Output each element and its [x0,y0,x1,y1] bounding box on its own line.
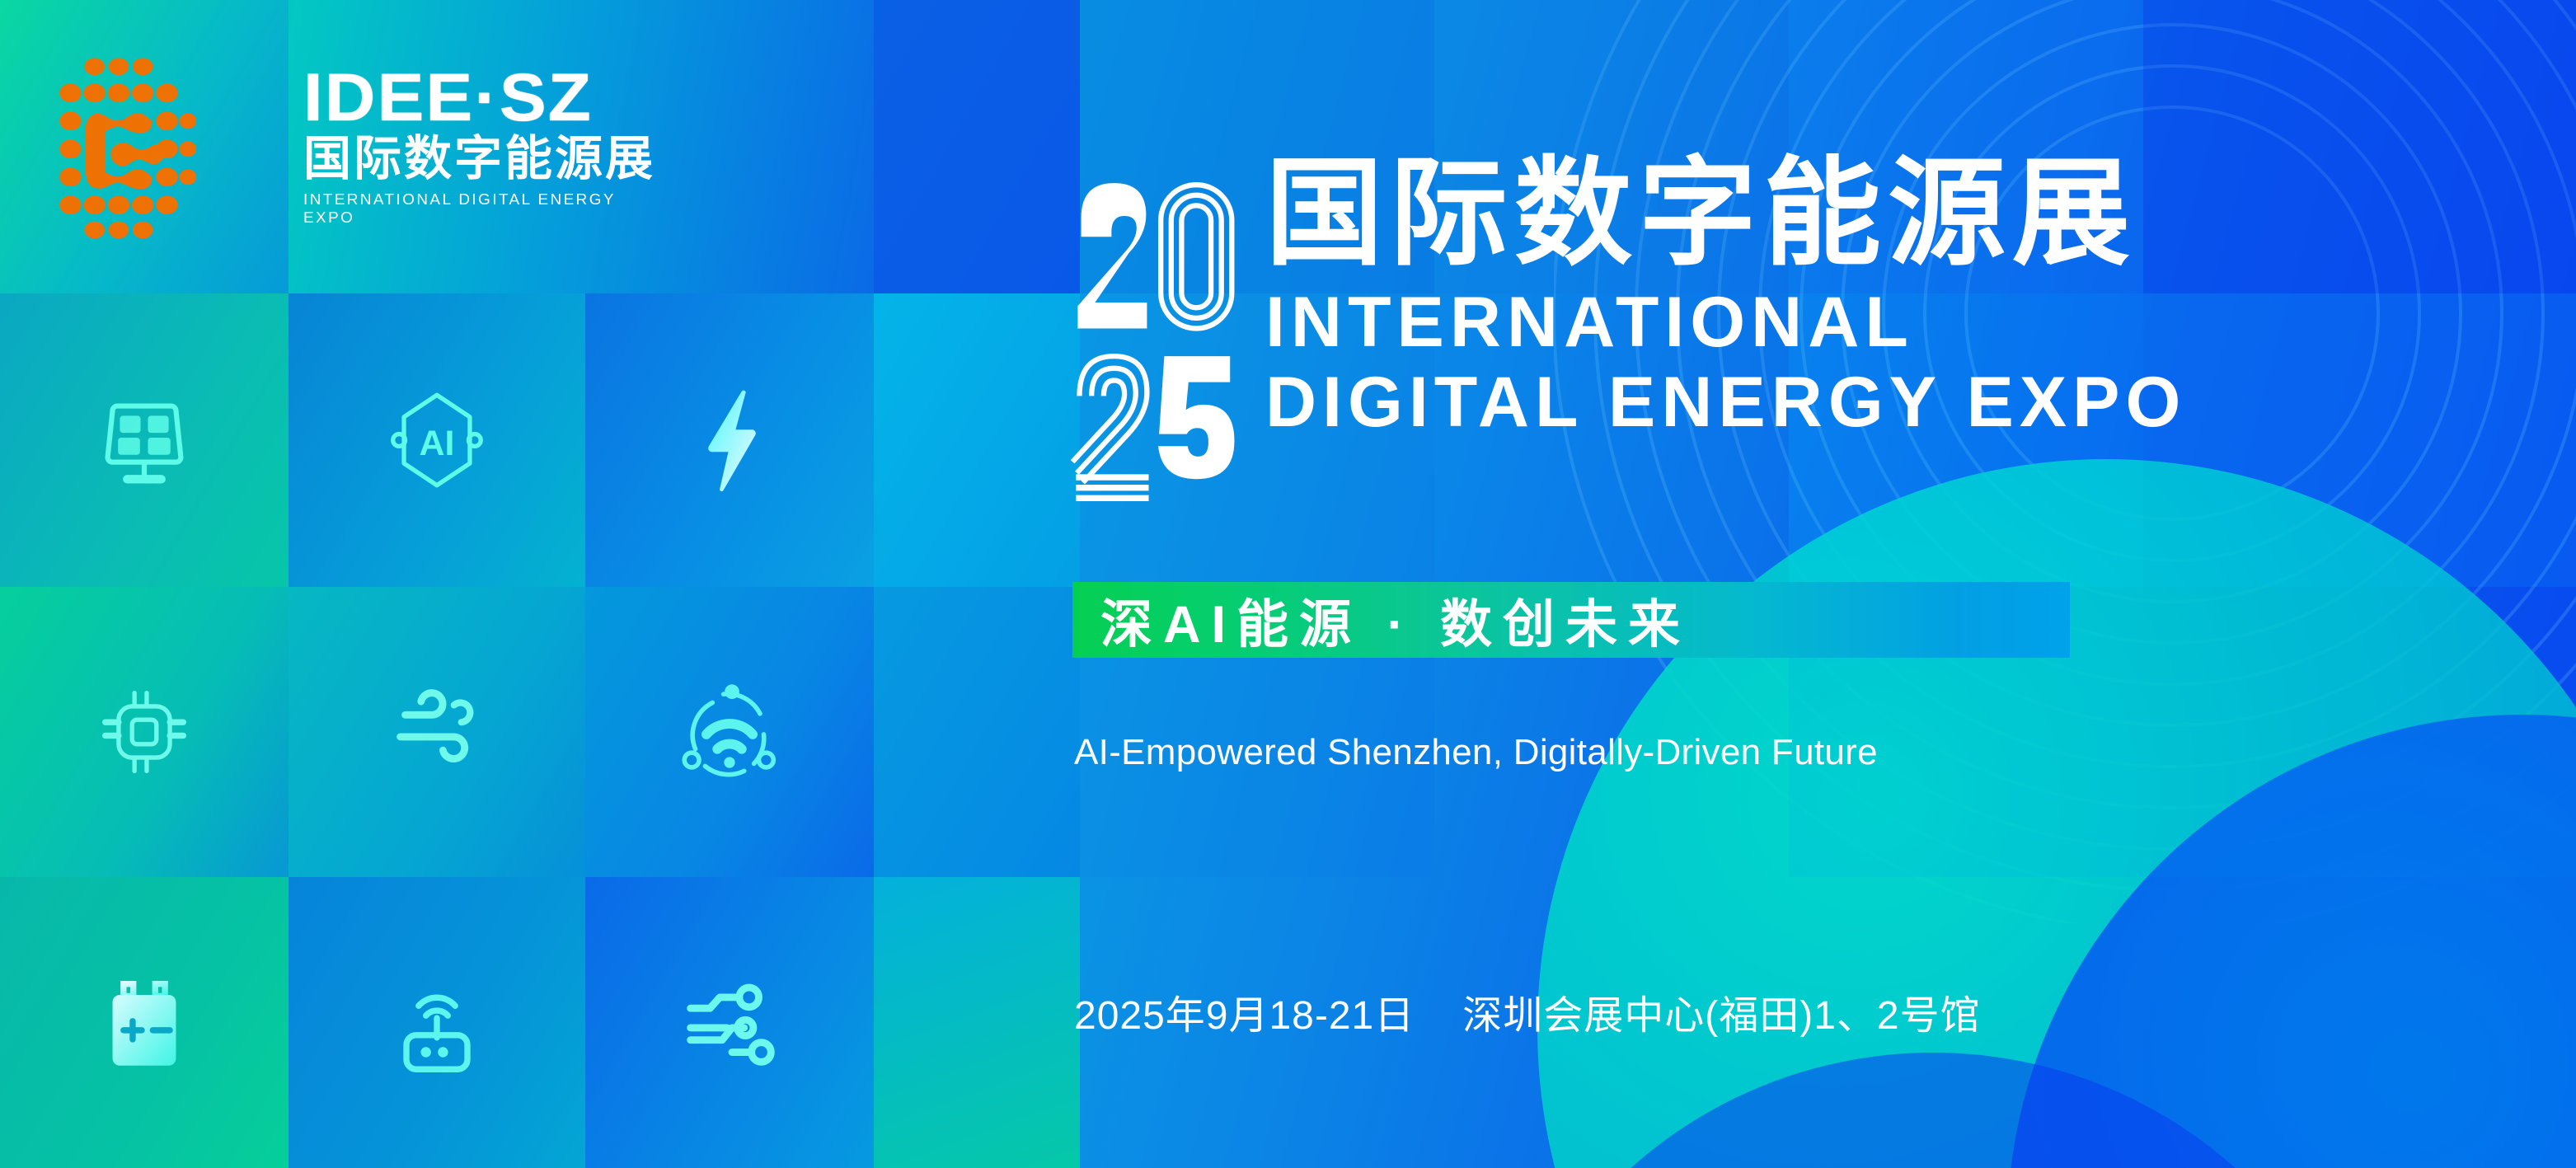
slogan-en: AI-Empowered Shenzhen, Digitally-Driven … [1074,732,1878,773]
svg-text:AI: AI [420,424,455,463]
hero-content: 国际数字能源展 INTERNATIONAL DIGITAL ENERGY EXP… [1067,0,2576,1168]
event-date: 2025年9月18-21日 [1074,983,1415,1040]
lightning-bolt-icon [585,293,874,587]
brand-wordmark-block: IDEE·SZ 国际数字能源展 INTERNATIONAL DIGITAL EN… [303,67,658,226]
circuit-nodes-icon [585,877,874,1168]
event-venue: 深圳会展中心(福田)1、2号馆 [1462,983,1980,1040]
slogan-bar: 深AI能源 · 数创未来 [1072,582,2070,658]
hero-title-texts: 国际数字能源展 INTERNATIONAL DIGITAL ENERGY EXP… [1265,154,2186,441]
wind-icon [289,587,585,877]
brand-name-en: INTERNATIONAL DIGITAL ENERGY EXPO [303,190,665,227]
mosaic-tile [874,587,1080,877]
hero-title-row: 国际数字能源展 INTERNATIONAL DIGITAL ENERGY EXP… [1067,161,2186,510]
hero-title-en2: DIGITAL ENERGY EXPO [1265,364,2186,441]
brand-logo-block[interactable]: IDEE·SZ 国际数字能源展 INTERNATIONAL DIGITAL EN… [0,0,1080,293]
processor-chip-icon [0,587,289,877]
brand-name-cn: 国际数字能源展 [303,133,658,186]
wireless-router-icon [289,877,585,1168]
solar-panel-icon [0,293,289,587]
idee-dot-matrix-e-logo [40,49,196,244]
hero-title-cn: 国际数字能源展 [1265,154,2186,274]
ai-chip-icon: AI [289,293,585,587]
brand-wordmark: IDEE·SZ [303,67,672,129]
hero-title-en1: INTERNATIONAL [1265,284,2186,361]
mosaic-tile [874,877,1080,1168]
event-info-row: 2025年9月18-21日 深圳会展中心(福田)1、2号馆 [1074,983,1981,1040]
mosaic-tile [874,293,1080,587]
slogan-cn: 深AI能源 · 数创未来 [1100,583,1691,658]
iot-network-icon [585,587,874,877]
battery-icon [0,877,289,1168]
hero-year-2025 [1067,164,1247,510]
expo-banner: IDEE·SZ 国际数字能源展 INTERNATIONAL DIGITAL EN… [0,0,2576,1168]
